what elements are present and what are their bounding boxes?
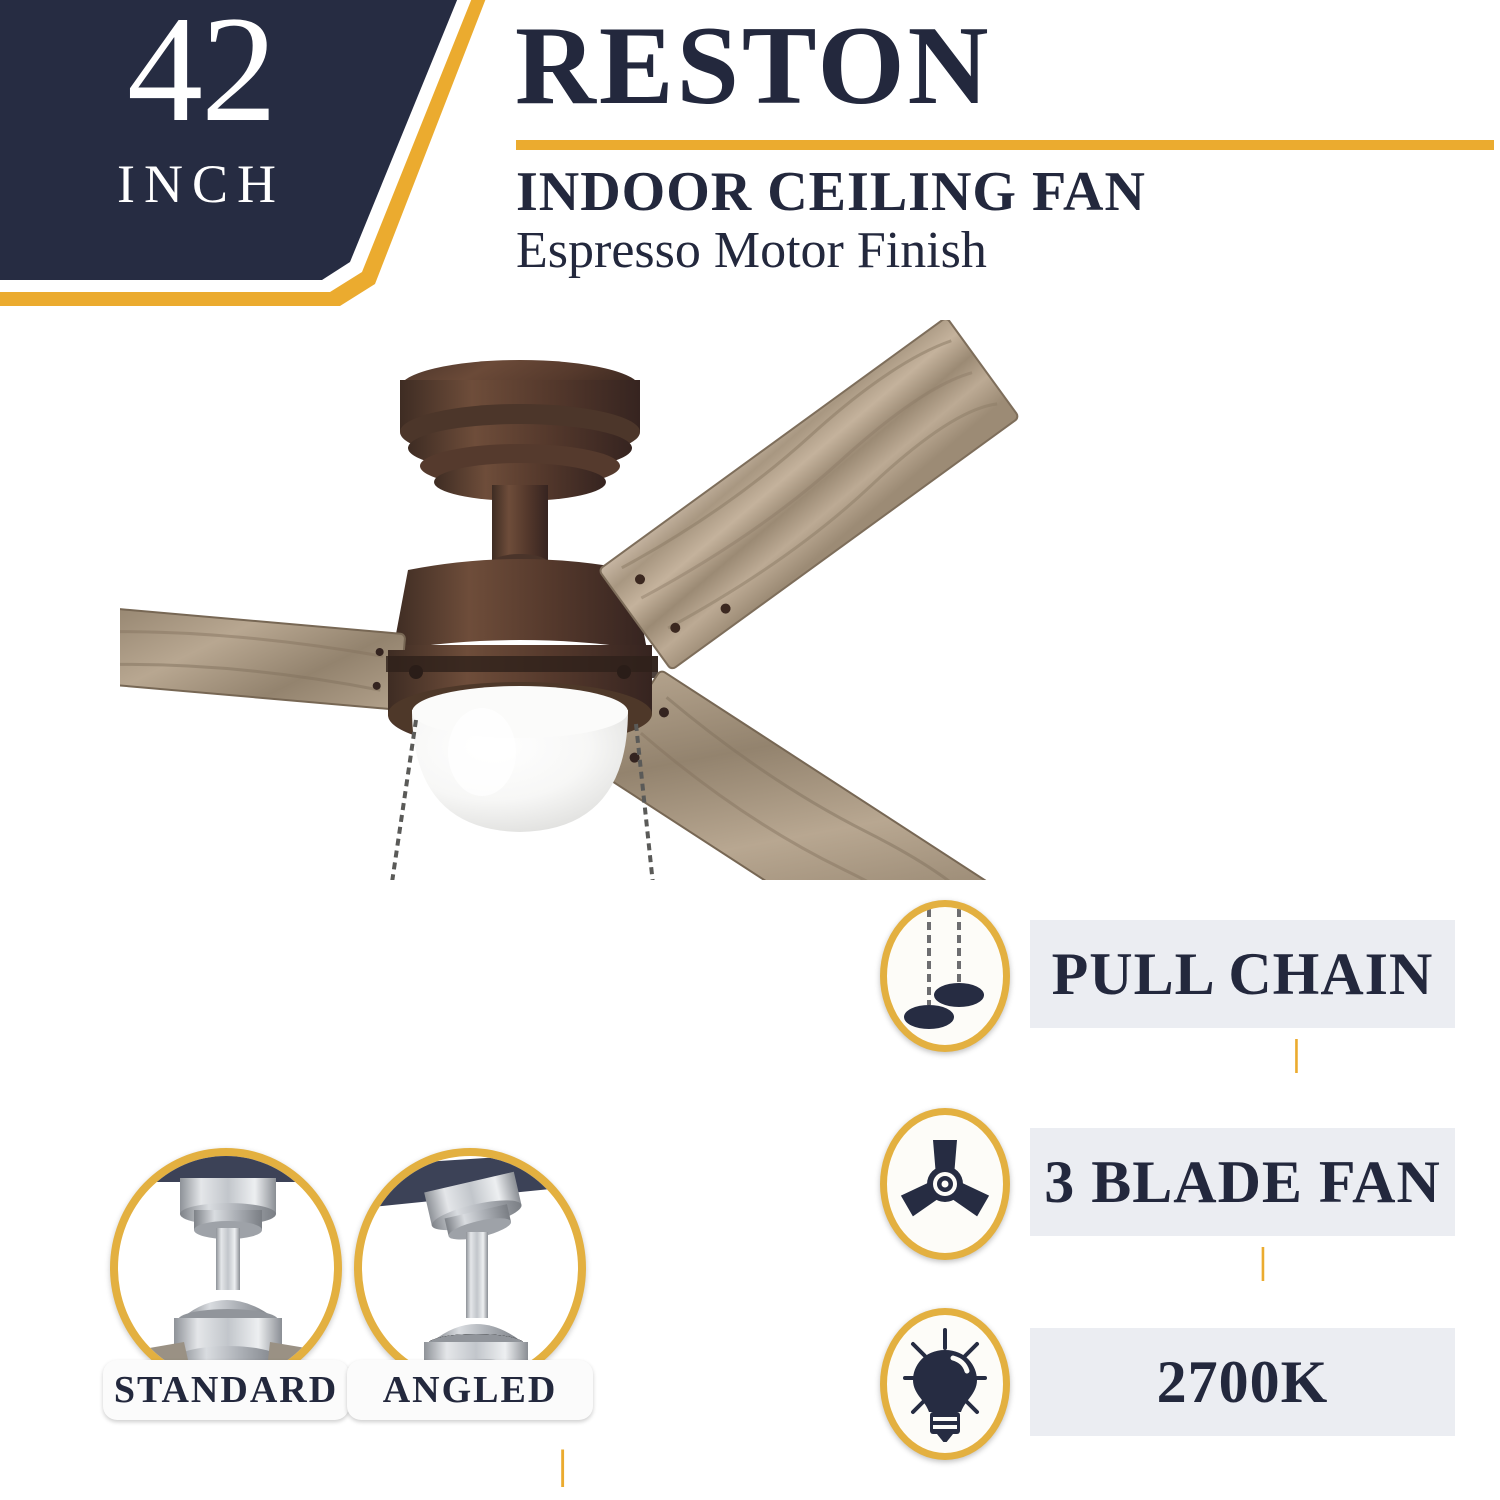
feature-pull-chain: PULL CHAIN ADJUST LIGHT | FAN SPEED bbox=[880, 900, 1480, 1090]
three-blade-fan-icon bbox=[880, 1108, 1010, 1260]
feature-subtitle-separator: | bbox=[1259, 1241, 1268, 1282]
mounting-caption: MOUNTING OPTIONS | DUAL-MOUNT bbox=[110, 1440, 730, 1488]
product-type-subtitle: INDOOR CEILING FAN bbox=[516, 162, 1146, 222]
title-gold-rule bbox=[516, 140, 1494, 150]
feature-subtitle: COLOR TEMPERATURE bbox=[1020, 1440, 1465, 1483]
badge-size-unit: INCH bbox=[86, 156, 316, 212]
mounting-options-section: STANDARD bbox=[110, 1148, 730, 1478]
feature-subtitle-left: COLOR TEMPERATURE bbox=[1039, 1441, 1447, 1482]
feature-title: 3 BLADE FAN bbox=[1030, 1148, 1455, 1217]
feature-subtitle-left: REVERSIBLE bbox=[1020, 1241, 1249, 1282]
mounting-caption-right: DUAL-MOUNT bbox=[578, 1441, 870, 1487]
finish-description: Espresso Motor Finish bbox=[516, 222, 987, 280]
pull-chain-icon bbox=[880, 900, 1010, 1052]
feature-title-box: 3 BLADE FAN bbox=[1030, 1128, 1455, 1236]
feature-three-blade-fan: 3 BLADE FAN REVERSIBLE | DUAL FINISH bbox=[880, 1108, 1480, 1298]
feature-color-temperature: 2700K COLOR TEMPERATURE bbox=[880, 1308, 1480, 1498]
ceiling-fan-photo bbox=[120, 320, 1150, 880]
size-badge: 42 INCH bbox=[0, 0, 510, 338]
mount-option-standard[interactable]: STANDARD bbox=[110, 1148, 342, 1388]
feature-title: 2700K bbox=[1030, 1348, 1455, 1417]
mount-option-angled[interactable]: ANGLED bbox=[354, 1148, 586, 1388]
angled-mount-label-pill: ANGLED bbox=[347, 1360, 593, 1420]
feature-subtitle: ADJUST LIGHT | FAN SPEED bbox=[1020, 1032, 1465, 1075]
standard-mount-icon bbox=[110, 1148, 342, 1388]
feature-title-box: PULL CHAIN bbox=[1030, 920, 1455, 1028]
standard-mount-label-pill: STANDARD bbox=[103, 1360, 349, 1420]
angled-mount-label: ANGLED bbox=[383, 1368, 558, 1412]
feature-title: PULL CHAIN bbox=[1030, 940, 1455, 1009]
feature-subtitle-separator: | bbox=[1292, 1033, 1301, 1074]
light-bulb-icon bbox=[880, 1308, 1010, 1460]
mounting-caption-separator: | bbox=[558, 1441, 568, 1487]
feature-subtitle: REVERSIBLE | DUAL FINISH bbox=[1020, 1240, 1465, 1283]
feature-subtitle-right: DUAL FINISH bbox=[1277, 1241, 1500, 1282]
feature-subtitle-right: FAN SPEED bbox=[1311, 1033, 1500, 1074]
page-title: RESTON bbox=[515, 8, 992, 124]
feature-title-box: 2700K bbox=[1030, 1328, 1455, 1436]
standard-mount-label: STANDARD bbox=[114, 1368, 338, 1412]
badge-size-number: 42 bbox=[86, 0, 316, 144]
product-infographic: 42 INCH RESTON INDOOR CEILING FAN Espres… bbox=[0, 0, 1500, 1500]
angled-mount-icon bbox=[354, 1148, 586, 1388]
mounting-caption-left: MOUNTING OPTIONS bbox=[110, 1441, 547, 1487]
feature-subtitle-left: ADJUST LIGHT bbox=[1020, 1033, 1283, 1074]
